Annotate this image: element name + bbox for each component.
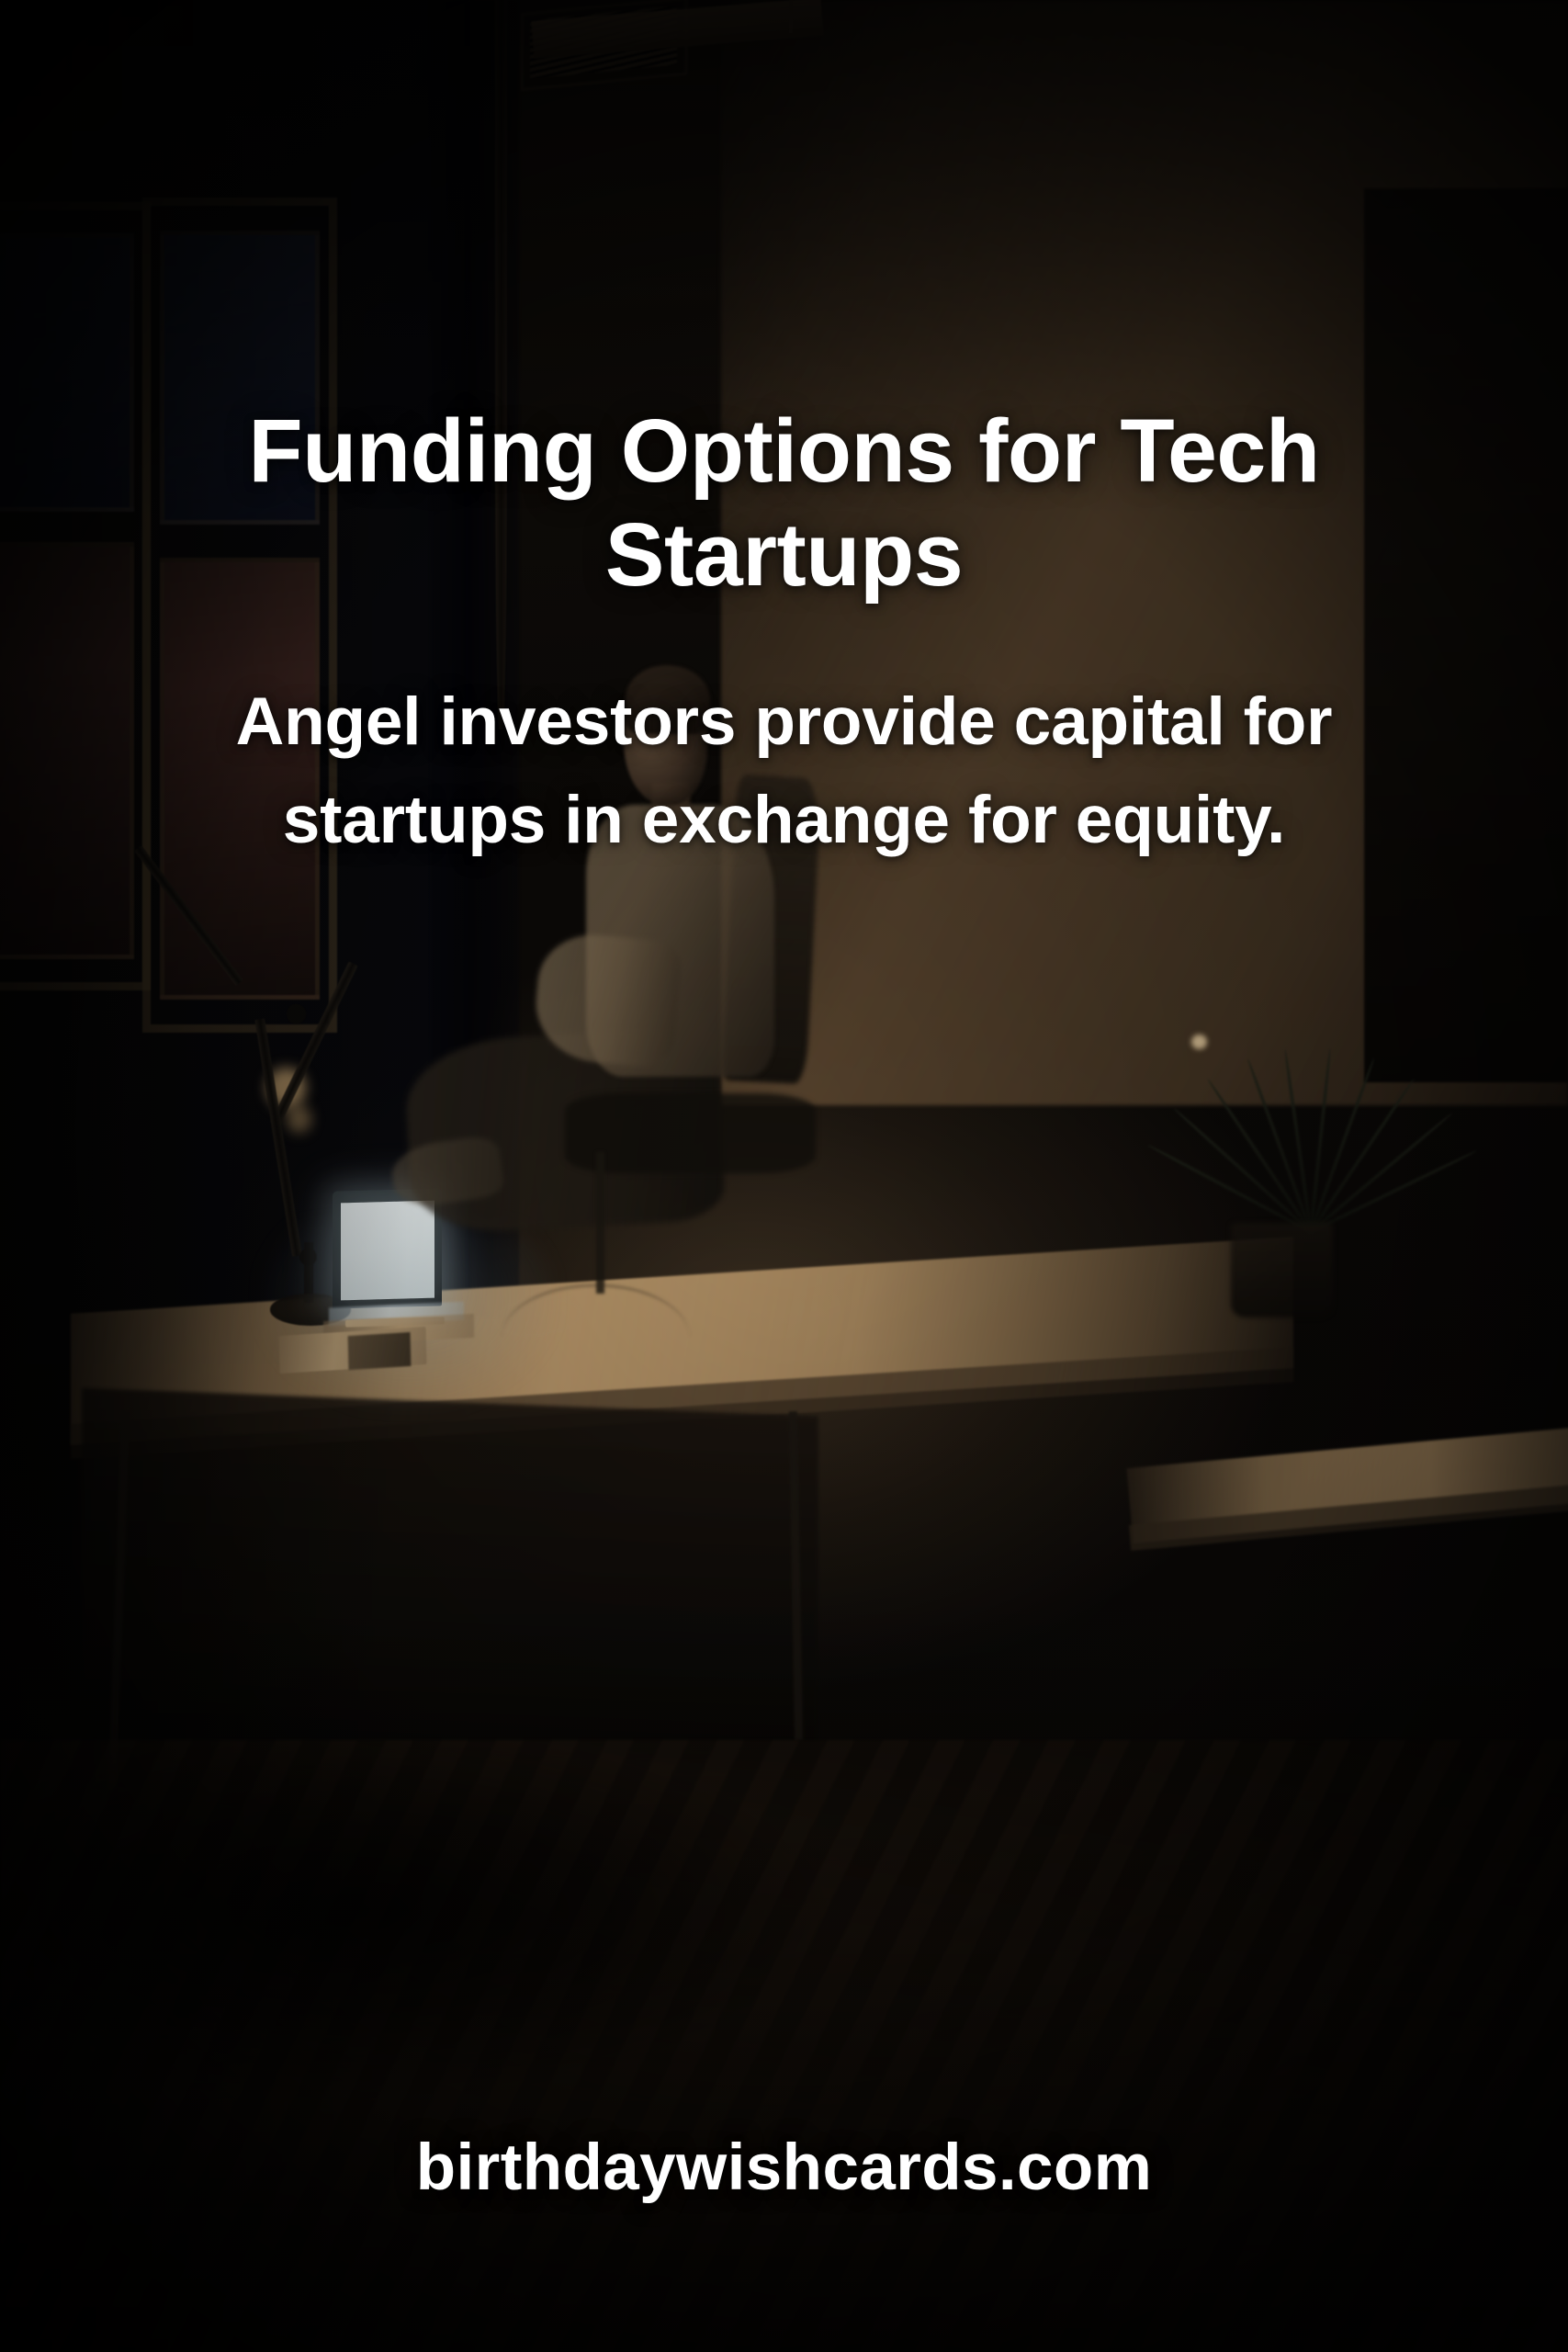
card-subtitle: Angel investors provide capital for star… bbox=[220, 673, 1348, 870]
social-card: Funding Options for Tech Startups Angel … bbox=[0, 0, 1568, 2352]
card-title: Funding Options for Tech Startups bbox=[133, 400, 1435, 606]
footer-website-url: birthdaywishcards.com bbox=[0, 2131, 1568, 2205]
text-overlay: Funding Options for Tech Startups Angel … bbox=[0, 0, 1568, 2352]
